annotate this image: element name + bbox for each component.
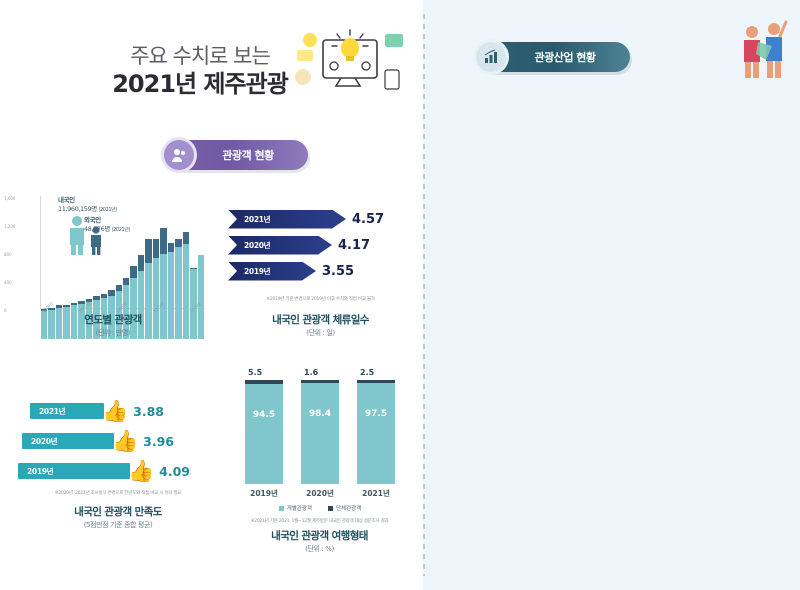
travel-type-individual-seg: 98.4 <box>301 383 339 484</box>
yearly-title: 연도별 관광객 <box>18 312 208 327</box>
satisfaction-row: 2021년👍3.88 <box>30 398 164 424</box>
satisfaction-year: 2019년 <box>18 466 53 477</box>
stay-arrow-row: 2019년3.55 <box>228 260 354 282</box>
travel-type-xlabel: 2021년 <box>351 488 401 499</box>
hero-illustration <box>275 22 410 102</box>
travel-type-subtitle: (단위 : %) <box>222 544 417 554</box>
page-title: 주요 수치로 보는 2021년 제주관광 <box>100 44 300 99</box>
stay-note: ※2019년 기준 변경으로 2019년 이후 수치와 직접 비교 불가 <box>228 296 413 302</box>
stay-arrow-year: 2020년 <box>244 240 270 251</box>
satisfaction-title: 내국인 관광객 만족도 <box>18 504 218 519</box>
yearly-bar-foreign <box>138 255 144 271</box>
right-panel: 관광산업 현황 1,1821,0701,138여행업342330332관광숙박업… <box>423 0 800 590</box>
travel-type-legend-item: 개별관광객 <box>279 504 312 512</box>
stay-title: 내국인 관광객 체류일수 <box>228 312 413 327</box>
travel-type-xlabel: 2019년 <box>239 488 289 499</box>
panel-divider <box>423 14 425 576</box>
travel-type-column: 97.5 <box>357 380 395 484</box>
travel-type-legend: 개별관광객단체관광객 <box>236 504 404 512</box>
stay-subtitle: (단위 : 일) <box>228 328 413 338</box>
title-line-1: 주요 수치로 보는 <box>100 44 300 68</box>
satisfaction-year: 2021년 <box>30 406 65 417</box>
section-header-tourists: 관광객 현황 <box>168 140 308 170</box>
travel-type-legend-item: 단체관광객 <box>328 504 361 512</box>
travel-type-note: ※2021년 기준 2021. 1월~12월 제주방문 내국인 관광객 대상 설… <box>222 518 417 524</box>
stay-arrow-value: 3.55 <box>322 264 354 279</box>
travel-type-top-value: 1.6 <box>304 368 318 377</box>
yearly-bar-foreign <box>130 266 136 278</box>
yearly-bar-foreign <box>153 239 159 257</box>
satisfaction-bar: 2019년 <box>18 463 130 479</box>
yearly-bar-foreign <box>160 228 166 253</box>
yearly-bar-foreign <box>145 239 151 262</box>
section-label-industry: 관광산업 현황 <box>506 49 630 65</box>
left-panel: 주요 수치로 보는 2021년 제주관광 관광객 <box>0 0 423 590</box>
stay-arrow-year: 2019년 <box>244 266 270 277</box>
travel-type-individual-seg: 97.5 <box>357 383 395 484</box>
callout-foreign: 외국인48,276명 (2021년) <box>84 216 130 234</box>
section-label-tourists: 관광객 현황 <box>194 147 308 163</box>
thumbs-up-icon: 👍 <box>112 431 138 452</box>
yearly-bar-foreign <box>123 278 129 285</box>
section-header-industry: 관광산업 현황 <box>480 42 630 72</box>
yearly-ytick: 800 <box>4 252 12 257</box>
satisfaction-row: 2020년👍3.96 <box>22 428 174 454</box>
travel-type-columns: 94.598.497.5 <box>236 376 404 484</box>
stay-arrow-value: 4.17 <box>338 238 370 253</box>
infographic-page: 주요 수치로 보는 2021년 제주관광 관광객 <box>0 0 800 590</box>
travel-type-xlabel: 2020년 <box>295 488 345 499</box>
bar-chart-icon <box>476 42 506 72</box>
travel-type-column: 94.5 <box>245 380 283 484</box>
stay-arrow-shape: 2021년 <box>228 210 346 229</box>
chart-yearly-tourists: 1,6001,2008004000 2000년2005년2010년2015년20… <box>18 190 208 340</box>
thumbs-up-icon: 👍 <box>128 461 154 482</box>
stay-arrow-shape: 2019년 <box>228 262 316 281</box>
stay-arrow-row: 2021년4.57 <box>228 208 384 230</box>
people-icon <box>164 140 194 170</box>
travel-type-top-value: 5.5 <box>248 368 262 377</box>
satisfaction-bar: 2020년 <box>22 433 114 449</box>
yearly-bar-foreign <box>168 243 174 252</box>
yearly-subtitle: (단위 : 만명) <box>18 328 208 338</box>
travelers-illustration <box>732 16 792 86</box>
satisfaction-value: 3.88 <box>133 404 164 419</box>
stay-arrow-value: 4.57 <box>352 212 384 227</box>
yearly-bar-foreign <box>183 232 189 244</box>
chart-stay-days: 2021년4.572020년4.172019년3.55 ※2019년 기준 변경… <box>228 208 413 343</box>
yearly-ytick: 0 <box>4 308 7 313</box>
chart-travel-type: 94.598.497.5 2019년2020년2021년 개별관광객단체관광객 … <box>222 368 417 548</box>
satisfaction-value: 4.09 <box>159 464 190 479</box>
travel-type-column: 98.4 <box>301 380 339 484</box>
satisfaction-year: 2020년 <box>22 436 57 447</box>
satisfaction-note: ※2020년, 2021년 조사방식 변경으로 전년도와 직접 비교 시 유의 … <box>18 490 218 496</box>
travel-type-xlabels: 2019년2020년2021년 <box>236 488 404 499</box>
satisfaction-subtitle: (5점만점 기준 종합 평균) <box>18 520 218 530</box>
thumbs-up-icon: 👍 <box>102 401 128 422</box>
yearly-ytick: 1,600 <box>4 196 15 201</box>
satisfaction-bar: 2021년 <box>30 403 104 419</box>
title-line-2: 2021년 제주관광 <box>100 70 300 99</box>
stay-arrow-shape: 2020년 <box>228 236 332 255</box>
travel-type-individual-seg: 94.5 <box>245 384 283 484</box>
yearly-ytick: 1,200 <box>4 224 15 229</box>
satisfaction-row: 2019년👍4.09 <box>18 458 190 484</box>
stay-arrow-row: 2020년4.17 <box>228 234 370 256</box>
travel-type-top-value: 2.5 <box>360 368 374 377</box>
callout-domestic: 내국인11,960,159명 (2021년) <box>58 196 117 214</box>
yearly-ytick: 400 <box>4 280 12 285</box>
stay-arrow-year: 2021년 <box>244 214 270 225</box>
satisfaction-value: 3.96 <box>143 434 174 449</box>
chart-satisfaction: 2021년👍3.882020년👍3.962019년👍4.09 ※2020년, 2… <box>18 398 218 548</box>
yearly-bar-foreign <box>175 239 181 248</box>
travel-type-title: 내국인 관광객 여행형태 <box>222 528 417 543</box>
